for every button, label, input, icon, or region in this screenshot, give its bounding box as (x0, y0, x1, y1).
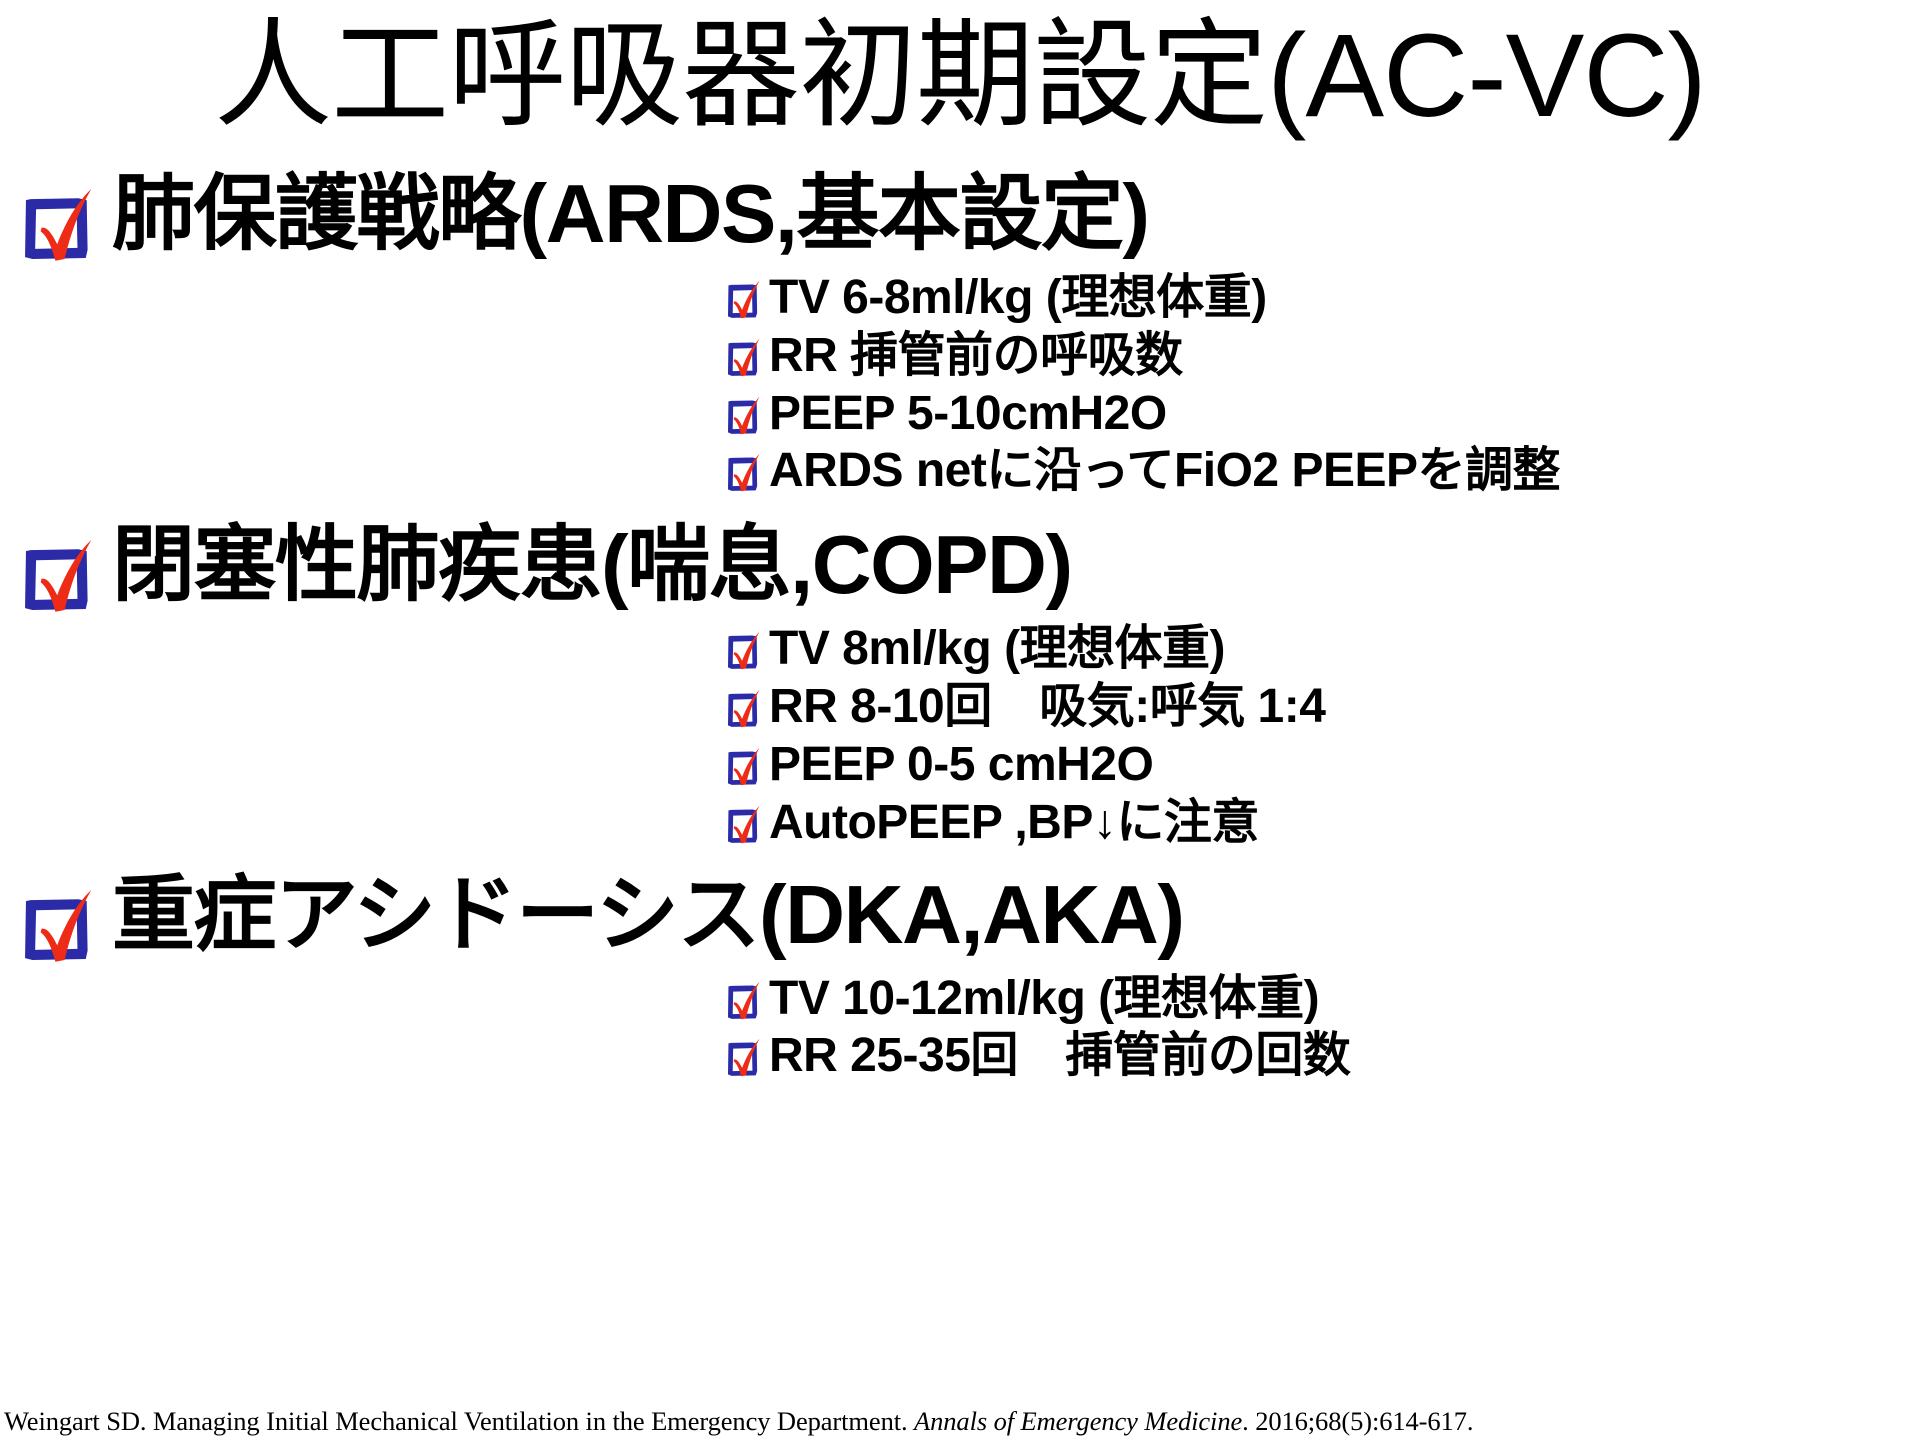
section-heading-row: 閉塞性肺疾患(喘息,COPD) (0, 523, 1920, 621)
page-title: 人工呼吸器初期設定(AC-VC) (0, 10, 1920, 142)
citation: Weingart SD. Managing Initial Mechanical… (4, 1407, 1916, 1436)
list-item-label: TV 8ml/kg (理想体重) (769, 623, 1225, 675)
section-heading-label: 閉塞性肺疾患(喘息,COPD) (112, 523, 1072, 608)
list-item-label: TV 6-8ml/kg (理想体重) (769, 272, 1267, 324)
slide-root: 人工呼吸器初期設定(AC-VC) 肺保護戦略(ARDS,基本設定) (0, 0, 1920, 1440)
list-item: RR 挿管前の呼吸数 (720, 330, 1920, 382)
checked-checkbox-icon (720, 801, 767, 848)
list-item: PEEP 5-10cmH2O (720, 388, 1920, 440)
list-item-label: RR 挿管前の呼吸数 (769, 330, 1183, 382)
list-item: AutoPEEP ,BP↓に注意 (720, 797, 1920, 849)
section-sub-list: TV 8ml/kg (理想体重) RR 8-10回 吸気:呼気 1:4 (720, 623, 1920, 848)
list-item-label: AutoPEEP ,BP↓に注意 (769, 797, 1259, 849)
list-item-label: ARDS netに沿ってFiO2 PEEPを調整 (769, 445, 1560, 497)
list-item: TV 6-8ml/kg (理想体重) (720, 272, 1920, 324)
section-heading-label: 重症アシドーシス(DKA,AKA) (112, 873, 1184, 958)
list-item-label: TV 10-12ml/kg (理想体重) (769, 973, 1319, 1025)
checked-checkbox-icon (720, 449, 767, 496)
list-item-label: RR 8-10回 吸気:呼気 1:4 (769, 681, 1325, 733)
slide-body: 肺保護戦略(ARDS,基本設定) TV 6-8ml/kg (理想体重) (0, 172, 1920, 1088)
list-item: ARDS netに沿ってFiO2 PEEPを調整 (720, 445, 1920, 497)
section-heading-label: 肺保護戦略(ARDS,基本設定) (112, 172, 1149, 257)
section-sub-list: TV 10-12ml/kg (理想体重) RR 25-35回 挿管前の回数 (720, 973, 1920, 1083)
checked-checkbox-icon (720, 627, 767, 674)
checked-checkbox-icon (720, 743, 767, 790)
list-item-label: RR 25-35回 挿管前の回数 (769, 1030, 1350, 1082)
citation-journal: Annals of Emergency Medicine (914, 1406, 1242, 1436)
list-item: TV 10-12ml/kg (理想体重) (720, 973, 1920, 1025)
list-item: PEEP 0-5 cmH2O (720, 739, 1920, 791)
citation-author-title: Weingart SD. Managing Initial Mechanical… (4, 1406, 914, 1436)
checked-checkbox-icon (720, 685, 767, 732)
section-severe-acidosis: 重症アシドーシス(DKA,AKA) TV 10-12ml/kg (理想体重) (0, 873, 1920, 1083)
section-lung-protective: 肺保護戦略(ARDS,基本設定) TV 6-8ml/kg (理想体重) (0, 172, 1920, 497)
checked-checkbox-icon (720, 1034, 767, 1081)
citation-details: . 2016;68(5):614-617. (1242, 1406, 1473, 1436)
section-heading-row: 肺保護戦略(ARDS,基本設定) (0, 172, 1920, 270)
checked-checkbox-icon (720, 334, 767, 381)
section-obstructive-lung-disease: 閉塞性肺疾患(喘息,COPD) TV 8ml/kg (理想体重) (0, 523, 1920, 848)
section-heading-row: 重症アシドーシス(DKA,AKA) (0, 873, 1920, 971)
checked-checkbox-icon (14, 879, 106, 971)
checked-checkbox-icon (14, 529, 106, 621)
list-item: TV 8ml/kg (理想体重) (720, 623, 1920, 675)
checked-checkbox-icon (720, 977, 767, 1024)
list-item: RR 8-10回 吸気:呼気 1:4 (720, 681, 1920, 733)
checked-checkbox-icon (720, 276, 767, 323)
list-item-label: PEEP 0-5 cmH2O (769, 739, 1153, 791)
list-item-label: PEEP 5-10cmH2O (769, 388, 1167, 440)
checked-checkbox-icon (14, 178, 106, 270)
list-item: RR 25-35回 挿管前の回数 (720, 1030, 1920, 1082)
section-sub-list: TV 6-8ml/kg (理想体重) RR 挿管前の呼吸数 (720, 272, 1920, 497)
checked-checkbox-icon (720, 392, 767, 439)
